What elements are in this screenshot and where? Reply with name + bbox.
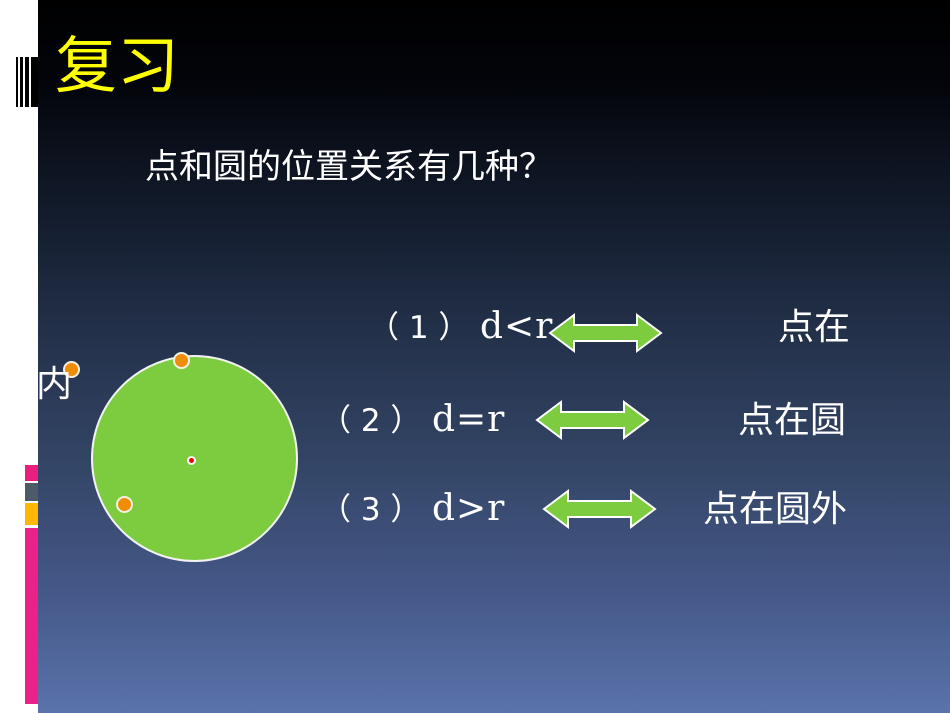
relation-expression-1: d<r bbox=[480, 306, 553, 347]
point-inside-circle-icon bbox=[116, 496, 133, 513]
barcode-stripes-icon bbox=[16, 57, 38, 107]
relation-row-2: （ 2 ） d=r bbox=[320, 398, 505, 443]
slide-content-area: 复习 点和圆的位置关系有几种？ （ 1 ） d<r 点在 圆内 （ 2 ） d=… bbox=[38, 0, 950, 713]
double-headed-arrow-icon-2 bbox=[535, 398, 650, 442]
left-decoration-rail bbox=[0, 0, 38, 713]
double-headed-arrow-icon-1 bbox=[548, 311, 663, 355]
relation-expression-2: d=r bbox=[432, 399, 505, 440]
slide-canvas: 复习 点和圆的位置关系有几种？ （ 1 ） d<r 点在 圆内 （ 2 ） d=… bbox=[0, 0, 950, 713]
relation-index-3: （ 3 ） bbox=[320, 492, 421, 528]
swatch-slate bbox=[25, 483, 38, 501]
circle-center-icon bbox=[187, 456, 196, 465]
swatch-amber bbox=[25, 503, 38, 525]
point-on-circle-icon bbox=[173, 352, 190, 369]
question-text: 点和圆的位置关系有几种？ bbox=[145, 144, 553, 190]
swatch-pink-small bbox=[25, 465, 38, 481]
circle-diagram bbox=[38, 330, 368, 590]
relation-index-1: （ 1 ） bbox=[368, 310, 469, 346]
relation-result-head-3: 点在圆外 bbox=[703, 487, 847, 533]
relation-result-head-2: 点在圆 bbox=[738, 398, 846, 444]
page-title: 复习 bbox=[55, 30, 179, 102]
relation-row-1: （ 1 ） d<r bbox=[368, 305, 553, 350]
relation-result-head-1: 点在 bbox=[778, 305, 850, 351]
double-headed-arrow-icon-3 bbox=[542, 487, 657, 531]
swatch-pink-long bbox=[25, 528, 38, 704]
relation-index-2: （ 2 ） bbox=[320, 403, 421, 439]
relation-row-3: （ 3 ） d>r bbox=[320, 487, 505, 532]
relation-result-tail-1: 圆内 bbox=[38, 362, 72, 408]
relation-expression-3: d>r bbox=[432, 488, 505, 529]
